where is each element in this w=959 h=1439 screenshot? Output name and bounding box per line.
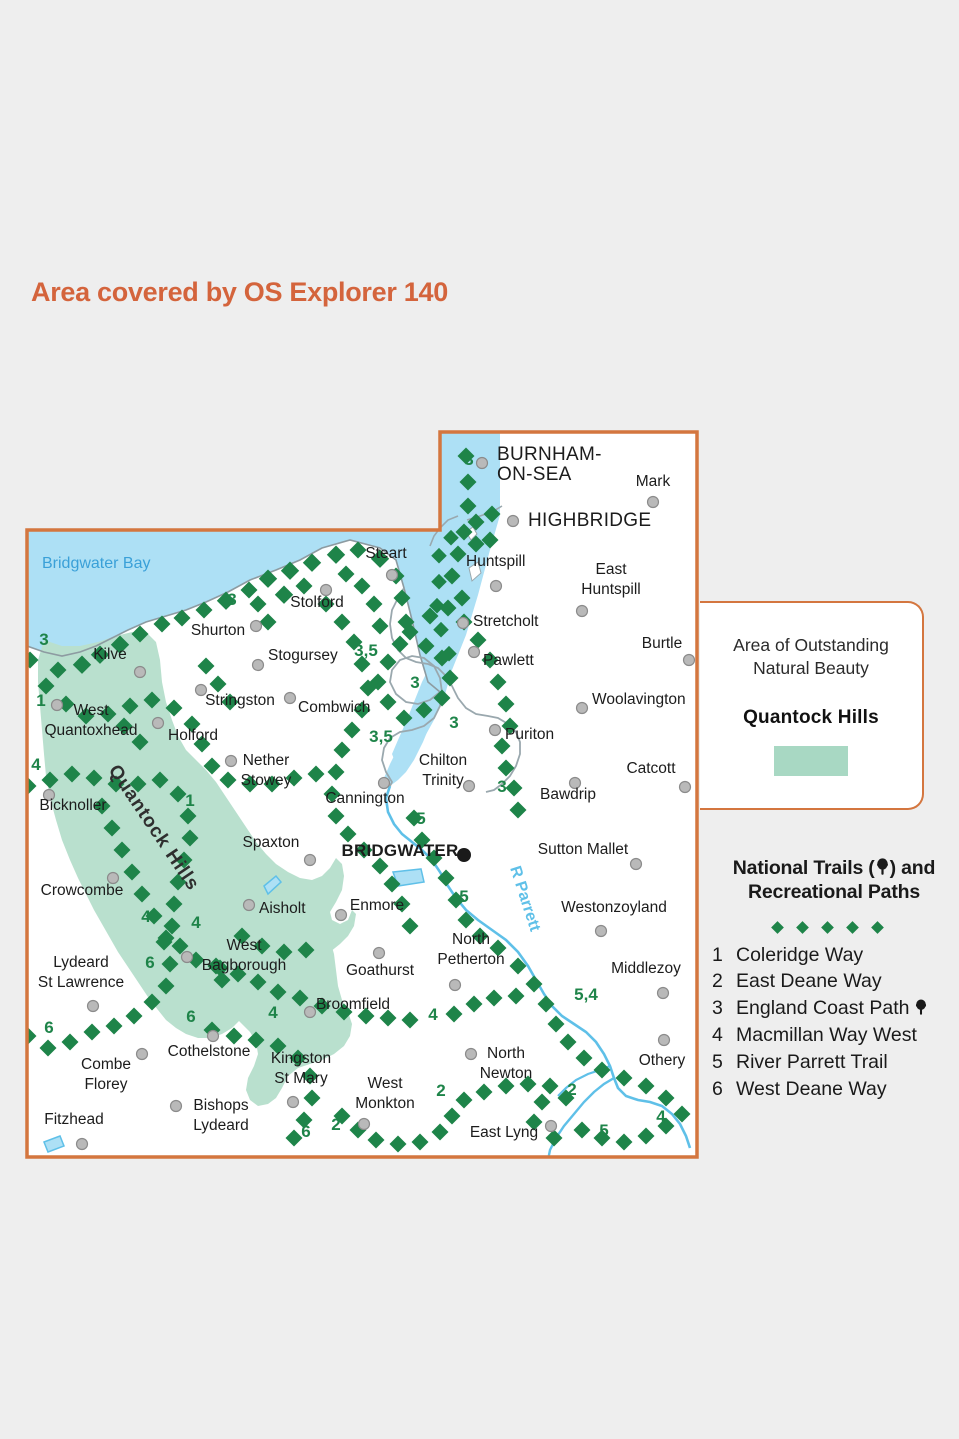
place-label: Othery (639, 1052, 686, 1069)
trail-number: 3 (497, 777, 506, 796)
page-root: Area covered by OS Explorer 140 (0, 0, 959, 1439)
place-label: Spaxton (243, 834, 300, 851)
place-label: Crowcombe (41, 882, 124, 899)
place-label: Westonzoyland (561, 899, 667, 916)
settlement-dot (88, 1001, 99, 1012)
settlement-dot (374, 948, 385, 959)
place-label: East Lyng (470, 1124, 538, 1141)
trail-number: 1 (36, 691, 45, 710)
settlement-dot (659, 1035, 670, 1046)
aonb-legend-line1: Area of Outstanding (700, 635, 922, 656)
place-label: Broomfield (316, 996, 390, 1013)
settlement-dot (137, 1049, 148, 1060)
settlement-dot (457, 848, 471, 862)
settlement-dot (244, 900, 255, 911)
trail-number: 3 (227, 590, 236, 609)
settlement-dot (77, 1139, 88, 1150)
place-label: Bawdrip (540, 786, 596, 803)
settlement-dot (253, 660, 264, 671)
settlement-dot (153, 718, 164, 729)
aonb-colour-swatch (774, 746, 848, 776)
place-label: Fitzhead (44, 1111, 103, 1128)
trails-legend-title-pre: National Trails ( (733, 857, 875, 879)
trail-legend-item[interactable]: 3England Coast Path (712, 998, 956, 1020)
trail-legend-number: 4 (712, 1025, 736, 1047)
settlement-dot (135, 667, 146, 678)
trail-number: 3 (410, 673, 419, 692)
trail-number: 5 (416, 809, 425, 828)
place-label: Kilve (93, 646, 127, 663)
place-label: Woolavington (592, 691, 686, 708)
acorn-icon (875, 857, 890, 876)
settlement-dot (458, 618, 469, 629)
trail-number: 2 (567, 1080, 576, 1099)
acorn-icon (914, 998, 928, 1016)
trail-number: 3,5 (369, 727, 393, 746)
settlement-dot (469, 647, 480, 658)
settlement-dot (596, 926, 607, 937)
place-label: Steart (365, 545, 407, 562)
trail-number: 3 (464, 450, 473, 469)
place-label: Goathurst (346, 962, 415, 979)
settlement-dot (208, 1031, 219, 1042)
trail-number: 6 (301, 1122, 310, 1141)
settlement-dot (305, 855, 316, 866)
trail-number: 6 (44, 1018, 53, 1037)
trail-legend-name: Macmillan Way West (736, 1025, 956, 1047)
place-label: Stogursey (268, 647, 338, 664)
place-label: Aisholt (259, 900, 306, 917)
settlement-dot (182, 952, 193, 963)
trail-number: 5 (599, 1121, 608, 1140)
place-label: Sutton Mallet (538, 841, 629, 858)
place-label: Puriton (505, 726, 554, 743)
trail-number: 5 (459, 887, 468, 906)
trail-legend-name: England Coast Path (736, 998, 956, 1020)
aonb-legend-box: Area of Outstanding Natural Beauty Quant… (700, 601, 924, 810)
trail-number: 1 (185, 791, 194, 810)
settlement-dot (466, 1049, 477, 1060)
settlement-dot (658, 988, 669, 999)
place-label: Shurton (191, 622, 245, 639)
settlement-dot (631, 859, 642, 870)
settlement-dot (305, 1007, 316, 1018)
place-label: Huntspill (466, 553, 525, 570)
settlement-dot (546, 1121, 557, 1132)
aonb-legend-line2: Natural Beauty (700, 658, 922, 679)
trail-legend-number: 1 (712, 945, 736, 967)
settlement-dot (359, 1119, 370, 1130)
settlement-dot (285, 693, 296, 704)
settlement-dot (477, 458, 488, 469)
trail-legend-name: East Deane Way (736, 971, 956, 993)
trail-symbol-sample (712, 919, 956, 935)
place-label: Middlezoy (611, 960, 681, 977)
place-label: Pawlett (483, 652, 535, 669)
trail-legend-item[interactable]: 5River Parrett Trail (712, 1052, 956, 1074)
settlement-dot (577, 606, 588, 617)
settlement-dot (508, 516, 519, 527)
settlement-dot (387, 570, 398, 581)
settlement-dot (450, 980, 461, 991)
settlement-dot (680, 782, 691, 793)
trail-number: 4 (656, 1107, 666, 1126)
trail-number: 3 (39, 630, 48, 649)
trail-number: 6 (186, 1007, 195, 1026)
trail-legend-item[interactable]: 1Coleridge Way (712, 945, 956, 967)
trails-legend-title-line2: Recreational Paths (712, 881, 956, 905)
trails-legend: National Trails () and Recreational Path… (712, 857, 956, 1106)
settlement-dot (684, 655, 695, 666)
trail-number: 4 (31, 755, 41, 774)
trail-legend-name: West Deane Way (736, 1079, 956, 1101)
settlement-dot (288, 1097, 299, 1108)
place-label: Bicknoller (39, 797, 106, 814)
settlement-dot (464, 781, 475, 792)
place-label: Mark (636, 473, 671, 490)
settlement-dot (171, 1101, 182, 1112)
bay-label: Bridgwater Bay (42, 555, 151, 572)
trail-number: 2 (436, 1081, 445, 1100)
trail-number: 2 (331, 1115, 340, 1134)
trail-legend-number: 5 (712, 1052, 736, 1074)
settlement-dot (52, 700, 63, 711)
settlement-dot (336, 910, 347, 921)
place-label: Cannington (325, 790, 404, 807)
trail-number: 3 (449, 713, 458, 732)
place-label: Combwich (298, 699, 370, 716)
settlement-dot (490, 725, 501, 736)
trail-number: 6 (145, 953, 154, 972)
settlement-dot (379, 778, 390, 789)
settlement-dot (251, 621, 262, 632)
trails-legend-title-post: ) and (890, 857, 936, 879)
place-label: Holford (168, 727, 218, 744)
place-label: Stolford (290, 594, 343, 611)
trail-number: 4 (191, 913, 201, 932)
trail-legend-item[interactable]: 4Macmillan Way West (712, 1025, 956, 1047)
place-label: Enmore (350, 897, 404, 914)
trail-number: 3,5 (354, 641, 378, 660)
trail-legend-item[interactable]: 2East Deane Way (712, 971, 956, 993)
settlement-dot (226, 756, 237, 767)
trail-legend-item[interactable]: 6West Deane Way (712, 1079, 956, 1101)
place-label: Catcott (626, 760, 676, 777)
aonb-legend-area-name: Quantock Hills (700, 707, 922, 729)
place-label: BRIDGWATER (342, 841, 459, 860)
trail-legend-name: Coleridge Way (736, 945, 956, 967)
trail-legend-name: River Parrett Trail (736, 1052, 956, 1074)
settlement-dot (648, 497, 659, 508)
trail-number: 4 (141, 907, 151, 926)
trail-legend-number: 6 (712, 1079, 736, 1101)
settlement-dot (577, 703, 588, 714)
place-label: Stringston (205, 692, 275, 709)
trail-legend-number: 2 (712, 971, 736, 993)
place-label: Cothelstone (168, 1043, 251, 1060)
place-label: Burtle (642, 635, 683, 652)
place-label: HIGHBRIDGE (528, 510, 651, 531)
trail-number: 4 (428, 1005, 438, 1024)
page-title: Area covered by OS Explorer 140 (31, 277, 448, 308)
trail-number: 4 (268, 1003, 278, 1022)
place-label: Stretcholt (473, 613, 539, 630)
trail-legend-number: 3 (712, 998, 736, 1020)
settlement-dot (491, 581, 502, 592)
trails-legend-list: 1Coleridge Way2East Deane Way3England Co… (712, 945, 956, 1101)
trails-legend-title-line1: National Trails () and (712, 857, 956, 881)
trail-number: 5,4 (574, 985, 598, 1004)
